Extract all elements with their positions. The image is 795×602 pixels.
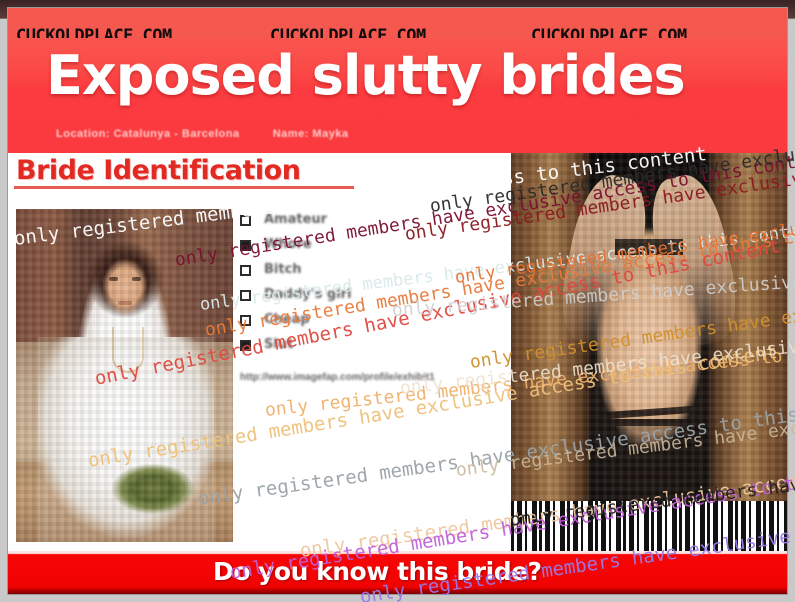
checklist-label: Amateur xyxy=(264,212,327,227)
censored-nude-photo xyxy=(511,153,787,551)
location-label: Location: xyxy=(56,128,110,140)
heading-underline xyxy=(14,186,354,189)
curtain-right xyxy=(709,153,787,551)
checkbox-daddys-girl[interactable] xyxy=(240,290,251,301)
location-value: Catalunya - Barcelona xyxy=(114,128,240,140)
content-area: CUCKOLDPLACE.COM CUCKOLDPLACE.COM CUCKOL… xyxy=(8,8,787,594)
section-heading: Bride Identification xyxy=(16,155,300,186)
mouth xyxy=(118,301,132,305)
identification-card: Bride Identification xyxy=(8,153,787,551)
underwear xyxy=(609,419,703,481)
checklist-row[interactable]: Cheap xyxy=(240,311,502,336)
checkbox-bitch[interactable] xyxy=(240,265,251,276)
window-frame: CUCKOLDPLACE.COM CUCKOLDPLACE.COM CUCKOL… xyxy=(0,0,795,602)
bottom-banner-text: Do you know this bride? xyxy=(213,557,542,586)
profile-url[interactable]: http://www.imagefap.com/profile/exhibit1 xyxy=(240,371,475,384)
checklist-label: Whore xyxy=(264,237,312,252)
checkbox-slut[interactable] xyxy=(240,340,251,351)
title-banner: Exposed slutty brides Location: Cataluny… xyxy=(8,38,787,153)
checklist-label: Daddy's girl xyxy=(264,287,352,302)
eye-censor-bar xyxy=(615,239,683,255)
identification-checklist: Amateur Whore Bitch Daddy's girl xyxy=(240,211,502,541)
right-eye xyxy=(132,277,141,281)
face xyxy=(100,257,150,317)
bottom-banner: Do you know this bride? xyxy=(8,551,787,594)
page-title: Exposed slutty brides xyxy=(46,44,685,107)
checkbox-cheap[interactable] xyxy=(240,315,251,326)
checkbox-amateur[interactable] xyxy=(240,215,251,226)
checklist-label: Bitch xyxy=(264,262,302,277)
necklace xyxy=(112,327,144,373)
checklist-row[interactable]: Daddy's girl xyxy=(240,286,502,311)
checklist-row[interactable]: Amateur xyxy=(240,211,502,236)
checklist-label: Slut xyxy=(264,337,293,352)
barcode-strip xyxy=(511,501,787,551)
subject-meta-line: Location: Catalunya - Barcelona Name: Ma… xyxy=(56,128,349,140)
checkbox-whore[interactable] xyxy=(240,240,251,251)
name-value: Mayka xyxy=(312,128,348,140)
left-eye xyxy=(109,277,118,281)
bride-portrait-photo xyxy=(16,209,233,542)
checklist-row[interactable]: Slut xyxy=(240,336,502,361)
screenshot-root: CUCKOLDPLACE.COM CUCKOLDPLACE.COM CUCKOL… xyxy=(0,0,795,602)
curtain-left xyxy=(511,153,589,551)
checklist-label: Cheap xyxy=(264,312,310,327)
checklist-row[interactable]: Whore xyxy=(240,236,502,261)
name-label: Name: xyxy=(273,128,309,140)
checklist-row[interactable]: Bitch xyxy=(240,261,502,286)
bouquet xyxy=(111,461,195,517)
